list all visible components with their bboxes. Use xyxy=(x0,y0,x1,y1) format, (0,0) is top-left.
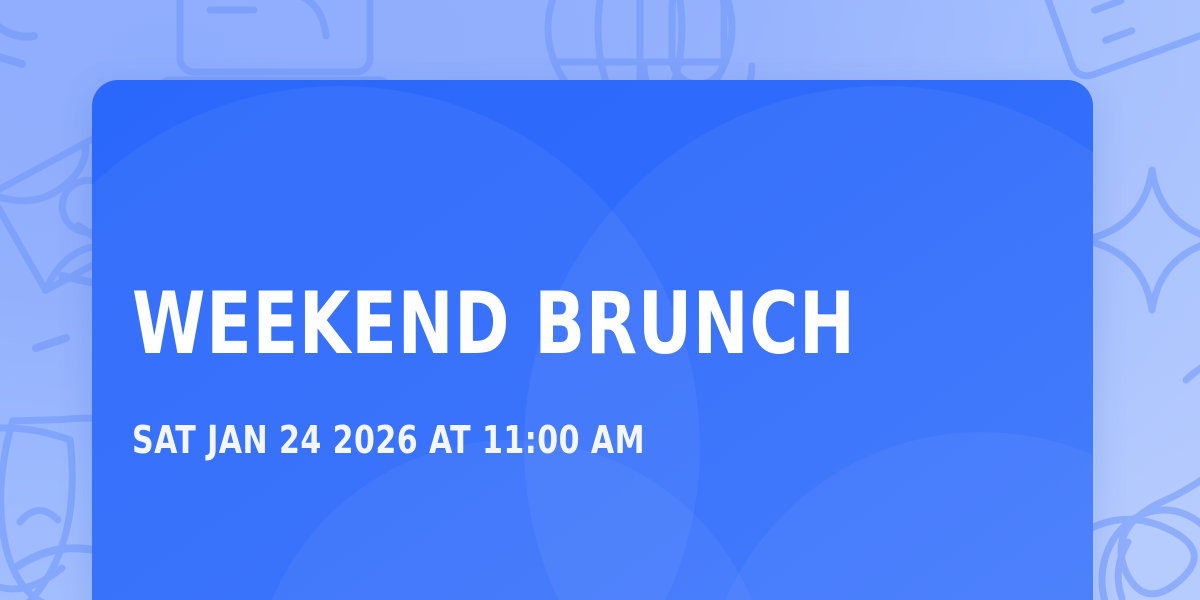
event-banner: Weekend Brunch Sat Jan 24 2026 at 11:00 … xyxy=(0,0,1200,600)
calendar-icon xyxy=(1024,0,1200,80)
event-card-content: Weekend Brunch Sat Jan 24 2026 at 11:00 … xyxy=(132,80,1053,600)
event-datetime: Sat Jan 24 2026 at 11:00 AM xyxy=(132,418,645,462)
event-title: Weekend Brunch xyxy=(132,278,856,370)
confetti-icon xyxy=(0,20,34,64)
event-card[interactable]: Weekend Brunch Sat Jan 24 2026 at 11:00 … xyxy=(92,80,1093,600)
sparkle-icon xyxy=(1084,170,1200,310)
